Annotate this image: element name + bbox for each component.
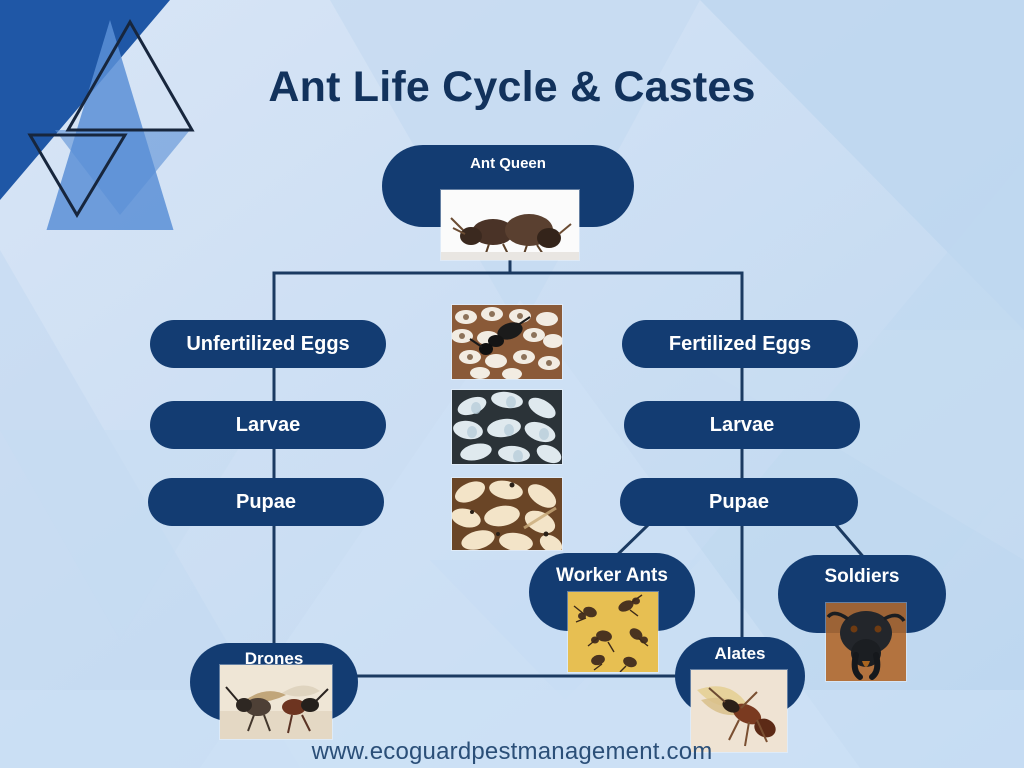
ant-pupae-photo [452,478,562,550]
node-alates-label: Alates [675,645,805,664]
node-worker-ants-label: Worker Ants [529,566,695,587]
ant-queen-photo [441,190,579,260]
node-left-larvae[interactable]: Larvae [150,401,386,449]
node-fertilized-eggs-label: Fertilized Eggs [622,333,858,355]
soldier-ant-photo [826,603,906,681]
node-left-larvae-label: Larvae [150,414,386,436]
node-left-pupae-label: Pupae [148,491,384,513]
page-title: Ant Life Cycle & Castes [0,63,1024,112]
node-right-pupae-label: Pupae [620,491,858,513]
node-fertilized-eggs[interactable]: Fertilized Eggs [622,320,858,368]
node-right-larvae[interactable]: Larvae [624,401,860,449]
node-soldiers-label: Soldiers [778,567,946,588]
ant-eggs-photo [452,305,562,379]
footer-website-url: www.ecoguardpestmanagement.com [0,738,1024,766]
worker-ants-photo [568,592,658,672]
node-left-pupae[interactable]: Pupae [148,478,384,526]
drone-ant-photo [220,665,332,739]
node-right-larvae-label: Larvae [624,414,860,436]
infographic-canvas: Ant Queen Unfertilized Eggs Larvae Pupae… [0,0,1024,768]
node-unfertilized-eggs-label: Unfertilized Eggs [150,333,386,355]
node-unfertilized-eggs[interactable]: Unfertilized Eggs [150,320,386,368]
ant-larvae-photo [452,390,562,464]
node-ant-queen-label: Ant Queen [382,156,634,173]
node-right-pupae[interactable]: Pupae [620,478,858,526]
